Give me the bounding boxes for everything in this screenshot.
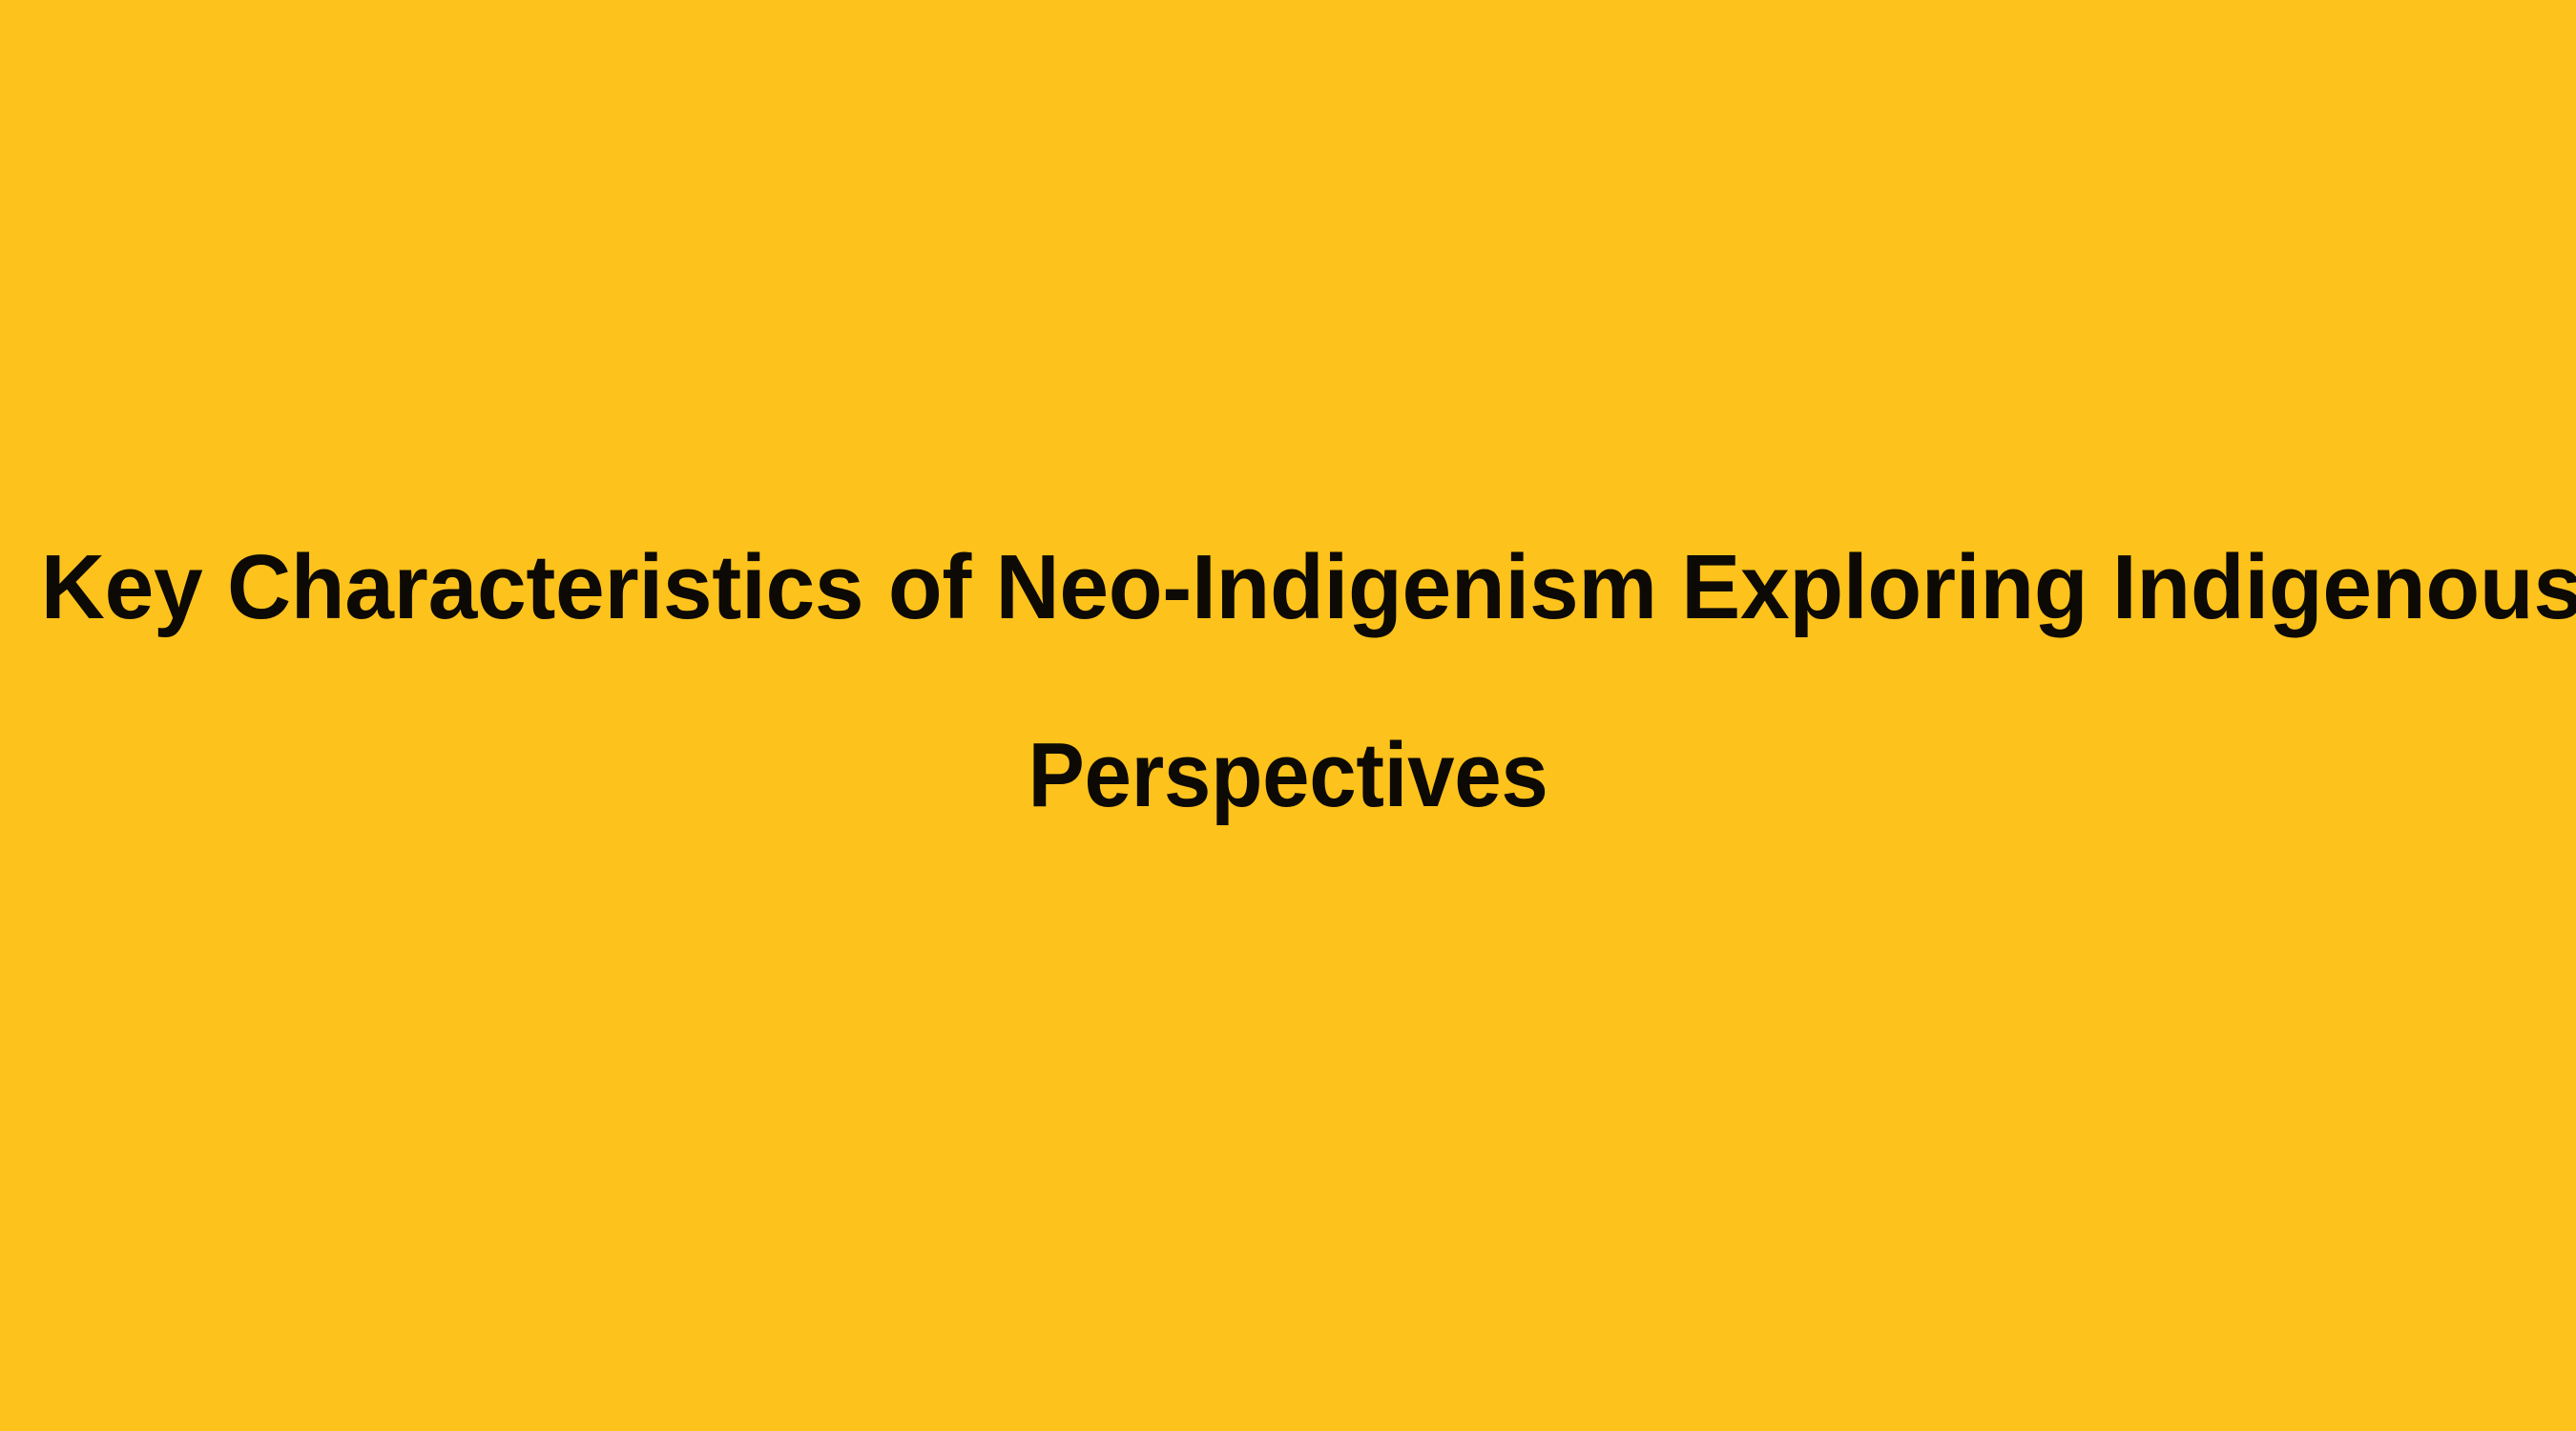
heading-block: Key Characteristics of Neo-Indigenism Ex… <box>0 0 2576 1431</box>
slide-canvas: Key Characteristics of Neo-Indigenism Ex… <box>0 0 2576 1431</box>
page-title: Key Characteristics of Neo-Indigenism Ex… <box>0 493 2576 869</box>
page-title-line-2: Perspectives <box>95 681 2480 869</box>
page-title-line-1: Key Characteristics of Neo-Indigenism Ex… <box>41 493 2536 681</box>
